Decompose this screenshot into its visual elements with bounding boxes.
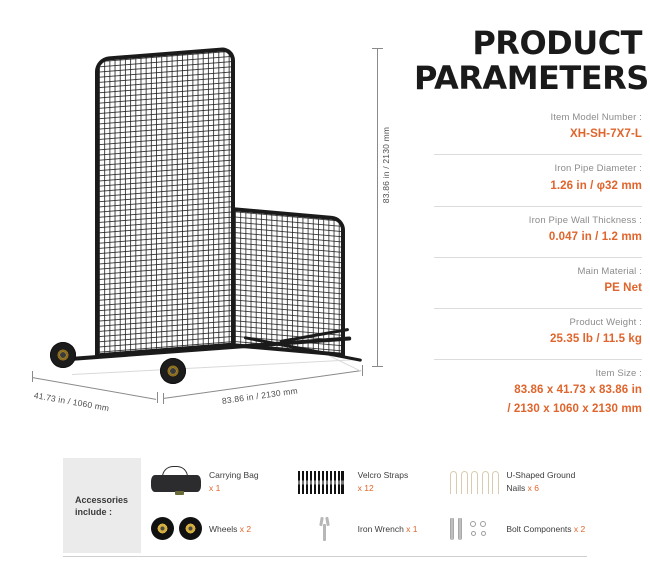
- spec-divider: [434, 359, 642, 360]
- spec-value: 1.26 in / φ32 mm: [414, 177, 642, 196]
- spec-value-line-1: 83.86 x 41.73 x 83.86 in: [414, 381, 642, 400]
- page-title-line-2: PARAMETERS: [414, 61, 642, 96]
- bolt-components-icon: [444, 512, 502, 546]
- page-title-line-1: PRODUCT: [414, 26, 642, 61]
- accessory-qty: x 1: [406, 524, 417, 534]
- spec-row-product-weight: Product Weight : 25.35 lb / 11.5 kg: [414, 316, 642, 353]
- accessories-legend: Accessories include :: [63, 458, 141, 553]
- height-dimension-cap-top: [372, 48, 383, 49]
- page-title: PRODUCT PARAMETERS: [414, 26, 642, 95]
- accessory-item-velcro-straps: Velcro Straps x 12: [290, 458, 439, 506]
- wrench-shape: [320, 517, 329, 541]
- spec-value: PE Net: [414, 279, 642, 298]
- accessory-name: Bolt Components: [506, 524, 571, 534]
- accessory-qty: x 2: [240, 524, 251, 534]
- accessory-label: Bolt Components x 2: [502, 523, 585, 535]
- velcro-straps-icon: [296, 465, 354, 499]
- accessories-panel: Accessories include : Carrying Bag x 1: [63, 458, 587, 553]
- spec-value: 83.86 x 41.73 x 83.86 in / 2130 x 1060 x…: [414, 381, 642, 419]
- height-dimension-cap-bottom: [372, 366, 383, 367]
- wheels-pair-shape: [151, 517, 202, 540]
- spec-value-line-2: / 2130 x 1060 x 2130 mm: [414, 400, 642, 419]
- spec-divider: [434, 308, 642, 309]
- bag-body-shape: [151, 475, 201, 492]
- product-figure: 83.86 in / 2130 mm 41.73 in / 1060 mm 83…: [0, 0, 410, 445]
- net-panel-main: [95, 46, 235, 357]
- width-dimension-cap-left: [163, 393, 164, 404]
- depth-dimension-label: 41.73 in / 1060 mm: [33, 390, 110, 413]
- nails-bundle-shape: [450, 471, 499, 494]
- l-screen-illustration: [48, 40, 358, 380]
- iron-wrench-icon: [296, 512, 354, 546]
- accessory-label: Velcro Straps x 12: [354, 469, 409, 494]
- height-dimension-label: 83.86 in / 2130 mm: [381, 127, 391, 203]
- accessories-legend-line-2: include :: [75, 506, 128, 518]
- accessories-grid: Carrying Bag x 1 Velcro Straps x 12: [141, 458, 587, 553]
- depth-dimension-cap-right: [157, 392, 158, 403]
- accessory-item-iron-wrench: Iron Wrench x 1: [290, 506, 439, 554]
- accessory-name: Wheels: [209, 524, 237, 534]
- u-shaped-ground-nails-icon: [444, 465, 502, 499]
- ground-outline-front: [72, 359, 362, 375]
- accessory-name: Iron Wrench: [358, 524, 404, 534]
- accessory-name: Carrying Bag: [209, 469, 259, 481]
- product-parameters-panel: PRODUCT PARAMETERS Item Model Number : X…: [414, 26, 642, 423]
- accessory-qty: x 12: [358, 483, 374, 493]
- wheels-icon: [147, 512, 205, 546]
- bottom-divider: [63, 556, 587, 557]
- spec-label: Product Weight :: [414, 316, 642, 330]
- accessory-label: U-Shaped Ground Nails x 6: [502, 469, 575, 494]
- spec-label: Iron Pipe Wall Thickness :: [414, 214, 642, 228]
- spec-row-item-model-number: Item Model Number : XH-SH-7X7-L: [414, 111, 642, 148]
- spec-divider: [434, 206, 642, 207]
- accessory-qty: x 6: [528, 483, 539, 493]
- spec-list: Item Model Number : XH-SH-7X7-L Iron Pip…: [414, 111, 642, 423]
- spec-label: Item Size :: [414, 367, 642, 381]
- accessory-name-line-2: Nails: [506, 483, 525, 493]
- spec-label: Iron Pipe Diameter :: [414, 162, 642, 176]
- accessory-label: Wheels x 2: [205, 523, 251, 535]
- spec-row-main-material: Main Material : PE Net: [414, 265, 642, 302]
- spec-row-iron-pipe-wall-thickness: Iron Pipe Wall Thickness : 0.047 in / 1.…: [414, 214, 642, 251]
- bag-tag-shape: [175, 491, 184, 495]
- height-dimension-line: [377, 48, 378, 366]
- accessory-name: U-Shaped Ground: [506, 469, 575, 481]
- accessory-label: Carrying Bag x 1: [205, 469, 259, 494]
- spec-value: 0.047 in / 1.2 mm: [414, 228, 642, 247]
- accessory-item-bolt-components: Bolt Components x 2: [438, 506, 587, 554]
- carrying-bag-icon: [147, 465, 205, 499]
- accessories-legend-text: Accessories include :: [75, 494, 128, 518]
- spec-value: XH-SH-7X7-L: [414, 125, 642, 144]
- spec-divider: [434, 257, 642, 258]
- spec-row-item-size: Item Size : 83.86 x 41.73 x 83.86 in / 2…: [414, 367, 642, 423]
- accessory-label: Iron Wrench x 1: [354, 523, 418, 535]
- product-wheel-right: [160, 358, 186, 384]
- accessory-name: Velcro Straps: [358, 469, 409, 481]
- spec-label: Main Material :: [414, 265, 642, 279]
- accessory-qty: x 1: [209, 483, 220, 493]
- depth-dimension-cap-left: [32, 371, 33, 382]
- straps-bundle-shape: [298, 471, 344, 494]
- spec-label: Item Model Number :: [414, 111, 642, 125]
- spec-value: 25.35 lb / 11.5 kg: [414, 330, 642, 349]
- accessory-item-u-shaped-ground-nails: U-Shaped Ground Nails x 6: [438, 458, 587, 506]
- accessory-item-carrying-bag: Carrying Bag x 1: [141, 458, 290, 506]
- accessory-item-wheels: Wheels x 2: [141, 506, 290, 554]
- accessories-legend-line-1: Accessories: [75, 495, 128, 505]
- width-dimension-cap-right: [362, 365, 363, 376]
- spec-row-iron-pipe-diameter: Iron Pipe Diameter : 1.26 in / φ32 mm: [414, 162, 642, 199]
- accessory-qty: x 2: [574, 524, 585, 534]
- product-wheel-left: [50, 342, 76, 368]
- spec-divider: [434, 154, 642, 155]
